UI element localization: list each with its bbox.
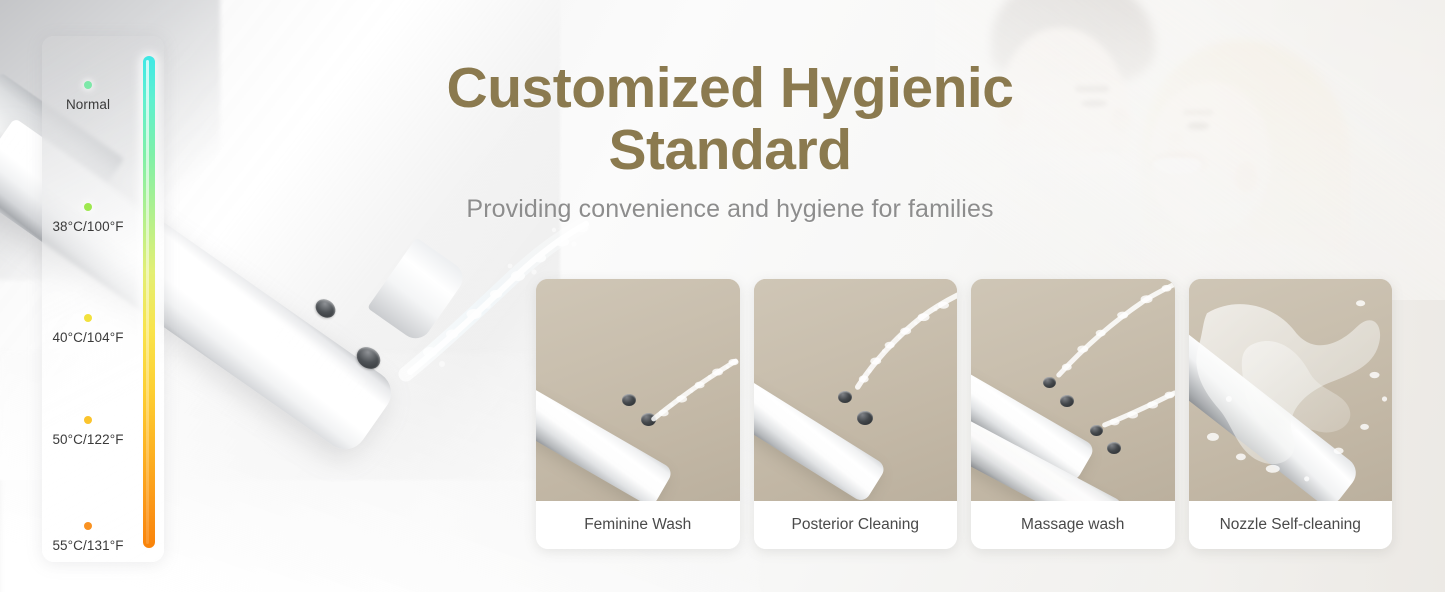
temperature-level-item: Normal [42,81,134,112]
temperature-level-list: Normal 38°C/100°F 40°C/104°F 50°C/122°F … [42,36,134,562]
feature-card[interactable]: Massage wash [971,279,1175,549]
temperature-level-label: 50°C/122°F [42,432,134,447]
water-splash [1189,279,1393,501]
feature-card-image [971,279,1175,501]
temperature-level-item: 50°C/122°F [42,416,134,447]
temperature-level-dot [84,81,92,89]
temperature-level-dot [84,203,92,211]
feature-card-caption: Posterior Cleaning [754,501,958,549]
water-spray [754,279,958,501]
temperature-level-dot [84,522,92,530]
feature-card-image [1189,279,1393,501]
feature-card[interactable]: Nozzle Self-cleaning [1189,279,1393,549]
feature-card-image [754,279,958,501]
temperature-level-label: 55°C/131°F [42,538,134,553]
temperature-level-label: Normal [42,97,134,112]
temperature-level-item: 55°C/131°F [42,522,134,553]
feature-card-list: Feminine Wash [536,279,1392,549]
splash-shapes [1196,304,1380,464]
temperature-level-item: 38°C/100°F [42,203,134,234]
lifestyle-couple-photo [935,0,1445,300]
feature-card-caption: Nozzle Self-cleaning [1189,501,1393,549]
water-spray [536,279,740,501]
water-spray [971,279,1175,501]
feature-card[interactable]: Posterior Cleaning [754,279,958,549]
temperature-level-label: 38°C/100°F [42,219,134,234]
couple-photo-fade-overlay [935,0,1445,300]
spray-stream-lower [1105,392,1175,426]
product-feature-banner: Normal 38°C/100°F 40°C/104°F 50°C/122°F … [0,0,1445,592]
temperature-level-dot [84,416,92,424]
temperature-gradient-bar [143,56,155,548]
spray-stream [857,295,957,387]
feature-card[interactable]: Feminine Wash [536,279,740,549]
spray-stream [654,359,739,419]
temperature-level-item: 40°C/104°F [42,314,134,345]
temperature-level-label: 40°C/104°F [42,330,134,345]
temperature-level-dot [84,314,92,322]
feature-card-caption: Feminine Wash [536,501,740,549]
feature-card-image [536,279,740,501]
spray-stream-upper [1059,284,1175,375]
feature-card-caption: Massage wash [971,501,1175,549]
